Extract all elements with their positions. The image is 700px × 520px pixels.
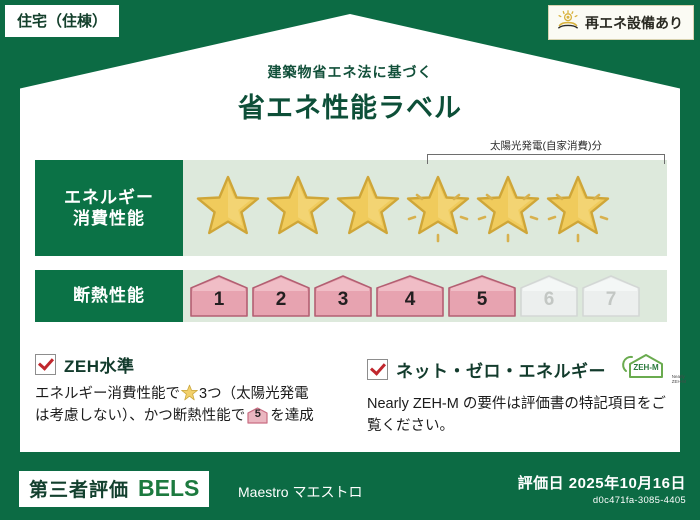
zeh-m-sub1: Nearly	[672, 374, 685, 379]
zeh-level-title: ZEH水準	[64, 352, 135, 377]
bels-badge: 第三者評価 BELS	[18, 470, 210, 508]
label-title: 建築物省エネ法に基づく 省エネ性能ラベル	[0, 62, 700, 125]
insulation-performance-row: 断熱性能 1 2 3 4 5 6	[35, 270, 667, 322]
zeh-desc-part2: は考慮しない）、かつ断熱性能で	[35, 408, 245, 424]
document-id: d0c471fa-3085-4405	[518, 495, 686, 506]
title-subtitle: 建築物省エネ法に基づく	[0, 62, 700, 82]
evaluation-meta: 評価日 2025年10月16日 d0c471fa-3085-4405	[518, 472, 686, 506]
zeh-level-heading: ZEH水準	[35, 352, 343, 377]
zeh-level-description: エネルギー消費性能で 3つ（太陽光発電 は考慮しない）、かつ断熱性能で 5 を達…	[35, 384, 343, 428]
evaluation-date: 評価日 2025年10月16日	[518, 472, 686, 493]
star-solar	[541, 173, 615, 243]
label-footer: 第三者評価 BELS Maestro マエストロ 評価日 2025年10月16日…	[0, 462, 700, 520]
insulation-level-inactive: 6	[519, 274, 579, 318]
net-zero-description: Nearly ZEH-M の要件は評価書の特記項目をご覧ください。	[367, 394, 675, 438]
zeh-m-logo-icon: ZEH-M Nearly ZEH-M	[620, 352, 670, 387]
star-filled	[261, 173, 335, 243]
third-party-label: 第三者評価	[29, 475, 129, 502]
solar-bracket-annotation: 太陽光発電(自家消費)分	[427, 138, 665, 164]
zeh-desc-part1: エネルギー消費性能で	[35, 386, 180, 402]
insulation-row-label-text: 断熱性能	[73, 285, 145, 306]
star-solar	[401, 173, 475, 243]
energy-row-label: エネルギー 消費性能	[35, 160, 183, 256]
zeh-m-logo-subtext: Nearly ZEH-M	[672, 374, 686, 385]
insulation-level-value: 1	[214, 289, 225, 318]
star-rating	[183, 160, 667, 256]
inline-star-icon	[181, 384, 198, 401]
zeh-desc-star-count: 3つ（太陽光発電	[199, 386, 309, 402]
renewable-equipment-label: 再エネ設備あり	[585, 13, 683, 33]
energy-row-label-line1: エネルギー	[64, 187, 154, 208]
star-solar	[471, 173, 545, 243]
insulation-level-value: 2	[276, 289, 287, 318]
net-zero-heading: ネット・ゼロ・エネルギー ZEH-M Nearly ZEH-M	[367, 352, 675, 387]
bels-logo-text: BELS	[138, 475, 199, 502]
star-filled	[191, 173, 265, 243]
criteria-section: ZEH水準 エネルギー消費性能で 3つ（太陽光発電 は考慮しない）、かつ断熱性能…	[35, 352, 675, 438]
insulation-level-value: 5	[477, 289, 488, 318]
net-zero-checkbox[interactable]	[367, 359, 388, 380]
inline-house-badge-value: 5	[247, 407, 268, 424]
criteria-zeh-level: ZEH水準 エネルギー消費性能で 3つ（太陽光発電 は考慮しない）、かつ断熱性能…	[35, 352, 343, 438]
insulation-level-scale: 1 2 3 4 5 6 7	[189, 270, 641, 322]
insulation-row-label: 断熱性能	[35, 270, 183, 322]
sun-icon	[557, 10, 579, 35]
inline-house-badge: 5	[247, 407, 268, 424]
title-main: 省エネ性能ラベル	[0, 86, 700, 125]
insulation-level-value: 7	[606, 289, 617, 318]
criteria-net-zero-energy: ネット・ゼロ・エネルギー ZEH-M Nearly ZEH-M Nearly Z…	[343, 352, 675, 438]
renewable-equipment-badge: 再エネ設備あり	[548, 5, 694, 40]
insulation-level-active: 3	[313, 274, 373, 318]
insulation-level-inactive: 7	[581, 274, 641, 318]
zeh-desc-part3: を達成	[270, 408, 314, 424]
building-type-label: 住宅（住棟）	[17, 13, 107, 30]
energy-performance-label: 住宅（住棟） 再エネ設備あり 建築物省エネ法に基づく 省エネ性能ラベル エネルギ…	[0, 0, 700, 520]
star-filled	[331, 173, 405, 243]
net-zero-title: ネット・ゼロ・エネルギー	[396, 357, 606, 382]
insulation-level-value: 4	[405, 289, 416, 318]
insulation-level-active: 5	[447, 274, 517, 318]
insulation-level-active: 1	[189, 274, 249, 318]
zeh-m-logo-text: ZEH-M	[633, 363, 659, 372]
building-type-badge: 住宅（住棟）	[4, 4, 120, 38]
zeh-m-sub2: ZEH-M	[672, 379, 686, 384]
insulation-row-body: 1 2 3 4 5 6 7	[183, 270, 667, 322]
energy-performance-row: エネルギー 消費性能 太陽光発電(自家消費)分	[35, 160, 667, 256]
energy-row-body: 太陽光発電(自家消費)分	[183, 160, 667, 256]
zeh-level-checkbox[interactable]	[35, 354, 56, 375]
solar-note-label: 太陽光発電(自家消費)分	[427, 138, 665, 153]
insulation-level-value: 3	[338, 289, 349, 318]
solar-bracket-line	[427, 154, 665, 164]
insulation-level-active: 2	[251, 274, 311, 318]
insulation-level-active: 4	[375, 274, 445, 318]
property-name: Maestro マエストロ	[238, 482, 362, 502]
insulation-level-value: 6	[544, 289, 555, 318]
energy-row-label-line2: 消費性能	[73, 208, 145, 229]
